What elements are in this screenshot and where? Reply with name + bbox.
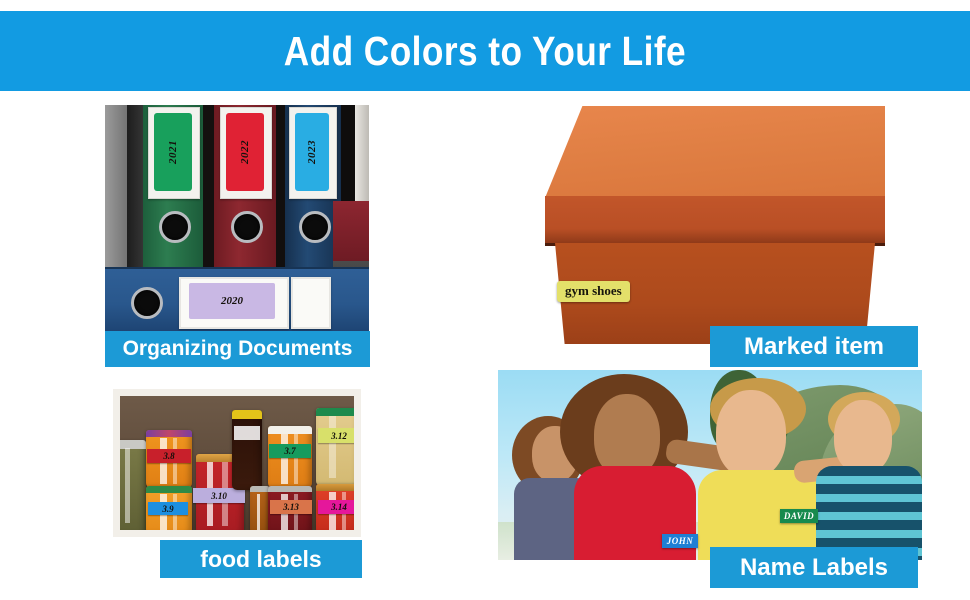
binder-label-2022-text: 2022 [239, 140, 251, 164]
photo-marked-item [545, 106, 885, 351]
jar-label-3-13: 3.13 [270, 500, 312, 514]
jar-label-3-12-text: 3.12 [331, 431, 347, 441]
photo-organizing-documents: 2021 2022 2023 [105, 105, 369, 335]
jar-label-3-12: 3.12 [318, 428, 360, 443]
binder-label-2021-text: 2021 [167, 140, 179, 164]
pantry-shelf: 3.8 3.9 3.10 [113, 389, 361, 537]
caption-organizing-documents: Organizing Documents [105, 331, 370, 367]
jar-label-3-7-text: 3.7 [284, 446, 295, 456]
jar-label-3-8: 3.8 [147, 449, 191, 463]
binder-label-2022: 2022 [226, 113, 264, 191]
jar-label-3-14: 3.14 [318, 500, 360, 514]
jar-label-3-7: 3.7 [269, 444, 311, 458]
binder-label-2020-text: 2020 [221, 295, 243, 307]
caption-food-labels-text: food labels [200, 546, 321, 573]
binder-label-2023-text: 2023 [306, 140, 318, 164]
jar-label-3-14-text: 3.14 [331, 502, 347, 512]
jar-label-3-10: 3.10 [193, 488, 245, 503]
product-collage: Add Colors to Your Life 2021 2022 [0, 0, 970, 600]
caption-name-labels: Name Labels [710, 547, 918, 588]
jar-label-3-9: 3.9 [148, 502, 188, 515]
binder-lying-blue: 2020 [105, 267, 369, 333]
caption-food-labels: food labels [160, 540, 362, 578]
photo-food-labels: 3.8 3.9 3.10 [105, 383, 369, 543]
caption-marked-item: Marked item [710, 326, 918, 367]
header-banner: Add Colors to Your Life [0, 11, 970, 91]
binder-label-2020: 2020 [189, 283, 275, 319]
binder-label-2021: 2021 [154, 113, 192, 191]
page-title: Add Colors to Your Life [284, 28, 686, 75]
box-lid-top [545, 106, 885, 198]
caption-marked-item-text: Marked item [744, 333, 884, 361]
caption-name-labels-text: Name Labels [740, 554, 888, 582]
photo-name-labels: JOHN DAVID [498, 370, 922, 560]
jar-label-3-9-text: 3.9 [162, 504, 173, 514]
jar-5 [316, 408, 360, 486]
box-label-gym-shoes: gym shoes [557, 281, 630, 302]
box-label-gym-shoes-text: gym shoes [565, 283, 622, 298]
name-label-john: JOHN [662, 534, 698, 548]
box-lid-side [545, 196, 885, 246]
binder-label-2023: 2023 [295, 113, 329, 191]
name-label-david-text: DAVID [784, 511, 814, 521]
caption-organizing-documents-text: Organizing Documents [123, 337, 353, 361]
name-label-david: DAVID [780, 509, 818, 523]
jar-label-3-13-text: 3.13 [283, 502, 299, 512]
jar-label-3-10-text: 3.10 [211, 491, 227, 501]
name-label-john-text: JOHN [667, 536, 694, 546]
jar-label-3-8-text: 3.8 [163, 451, 174, 461]
